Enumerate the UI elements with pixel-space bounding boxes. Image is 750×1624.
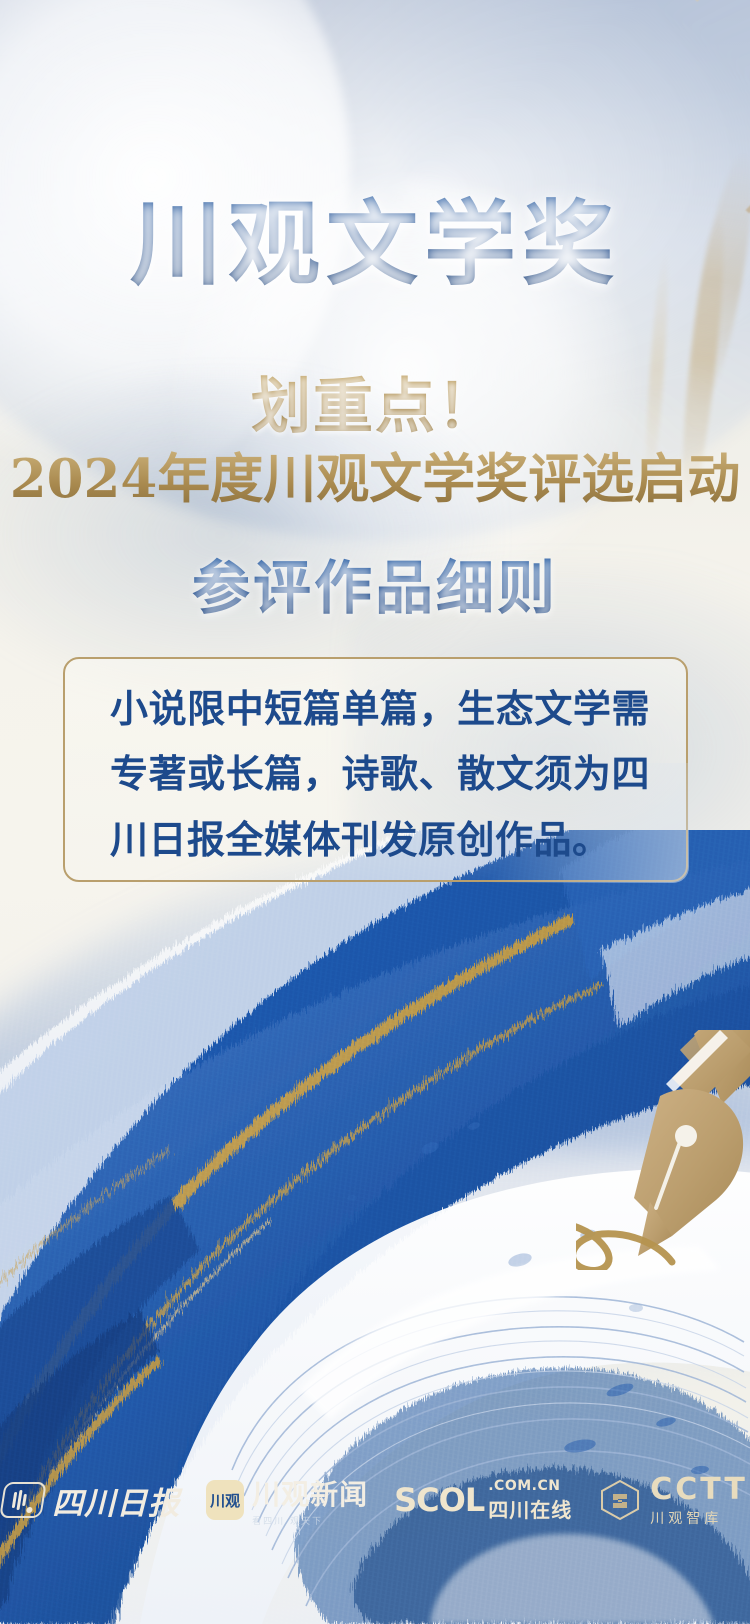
- poster-subtitle: 2024年度川观文学奖评选启动: [0, 450, 750, 508]
- chuanguan-app-badge-icon: 川观: [206, 1480, 244, 1520]
- logo-scol[interactable]: SCOL .COM.CN 四川在线: [394, 1478, 572, 1523]
- logo-chuanguan-news-tagline: 看四川 观天下: [252, 1514, 323, 1527]
- logo-cctt[interactable]: CCTT 川观智库: [598, 1472, 748, 1528]
- highlight-label: 划重点！: [0, 374, 750, 440]
- logo-scol-mark: SCOL: [394, 1481, 484, 1519]
- cctt-cube-icon: [598, 1478, 642, 1522]
- poster-title: 川观文学奖: [0, 196, 750, 294]
- poster-canvas: 川观文学奖 划重点！ 2024年度川观文学奖评选启动 参评作品细则 小说限中短篇…: [0, 0, 750, 1624]
- logo-sichuan-daily-label: 四川日报: [52, 1478, 180, 1523]
- fountain-pen-nib-icon: [576, 1030, 750, 1270]
- rule-text: 小说限中短篇单篇，生态文学需专著或长篇，诗歌、散文须为四川日报全媒体刊发原创作品…: [110, 676, 650, 872]
- footer-logo-bar: 四川日报 川观 川观新闻 看四川 观天下 SCOL .COM.CN 四川在线 C…: [0, 1472, 750, 1528]
- sichuan-daily-mark-icon: [0, 1482, 47, 1518]
- logo-sichuan-daily[interactable]: 四川日报: [2, 1478, 180, 1523]
- logo-chuanguan-news[interactable]: 川观 川观新闻 看四川 观天下: [206, 1473, 368, 1527]
- logo-chuanguan-news-label: 川观新闻: [252, 1473, 368, 1513]
- logo-cctt-mark: CCTT: [650, 1472, 748, 1507]
- logo-scol-domain: .COM.CN: [488, 1478, 560, 1494]
- logo-scol-label: 四川在线: [488, 1494, 572, 1523]
- section-heading: 参评作品细则: [0, 556, 750, 621]
- logo-cctt-label: 川观智库: [650, 1508, 722, 1528]
